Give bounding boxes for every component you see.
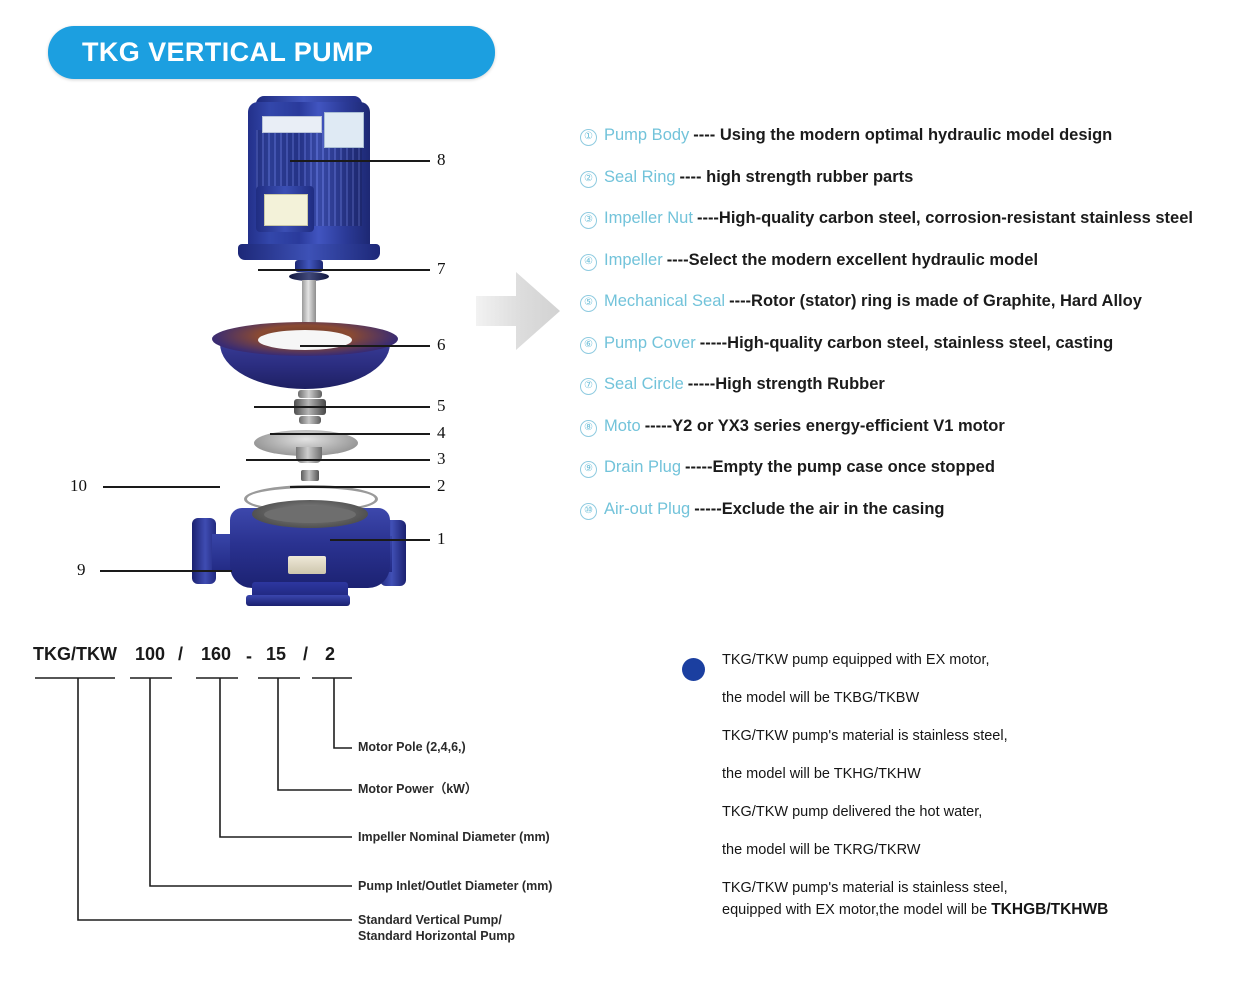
- legend-part-name-5: Mechanical Seal: [604, 292, 725, 311]
- legend-item-3: ③ Impeller Nut ----High-quality carbon s…: [580, 209, 1230, 230]
- callout-leader-4: [270, 433, 430, 435]
- legend-part-name-8: Moto: [604, 417, 641, 436]
- parts-legend: ① Pump Body ---- Using the modern optima…: [580, 126, 1230, 541]
- legend-part-name-7: Seal Circle: [604, 375, 684, 394]
- legend-item-1: ① Pump Body ---- Using the modern optima…: [580, 126, 1230, 147]
- impeller-nut-part: [301, 470, 319, 481]
- callout-number-10: 10: [70, 476, 87, 496]
- legend-part-desc-9: -----Empty the pump case once stopped: [685, 458, 995, 477]
- legend-number-icon-7: ⑦: [580, 378, 597, 395]
- callout-leader-5: [254, 406, 430, 408]
- nomenclature-label-motor-power: Motor Power（kW）: [358, 782, 477, 797]
- nomenclature-label-standard-line2: Standard Horizontal Pump: [358, 929, 515, 944]
- note-line-5: TKG/TKW pump delivered the hot water,: [722, 804, 1222, 820]
- pump-body-bore: [264, 506, 356, 523]
- legend-number-icon-8: ⑧: [580, 420, 597, 437]
- note-line-6: the model will be TKRG/TKRW: [722, 842, 1222, 858]
- note-line-8-model: TKHGB/TKHWB: [991, 901, 1108, 918]
- nomenclature-label-impeller-diameter: Impeller Nominal Diameter (mm): [358, 830, 550, 845]
- legend-part-desc-1: ---- Using the modern optimal hydraulic …: [693, 126, 1112, 145]
- nomenclature-label-inlet-outlet: Pump Inlet/Outlet Diameter (mm): [358, 879, 552, 894]
- bullet-icon: [682, 658, 705, 681]
- callout-number-9: 9: [77, 560, 86, 580]
- legend-part-desc-2: ---- high strength rubber parts: [680, 168, 914, 187]
- callout-number-6: 6: [437, 335, 446, 355]
- note-line-8: equipped with EX motor,the model will be…: [722, 902, 1222, 918]
- legend-part-desc-8: -----Y2 or YX3 series energy-efficient V…: [645, 417, 1005, 436]
- callout-leader-3: [246, 459, 430, 461]
- legend-item-4: ④ Impeller ----Select the modern excelle…: [580, 251, 1230, 272]
- legend-item-10: ⑩ Air-out Plug -----Exclude the air in t…: [580, 500, 1230, 521]
- callout-leader-2: [290, 486, 430, 488]
- callout-number-1: 1: [437, 529, 446, 549]
- note-line-4: the model will be TKHG/TKHW: [722, 766, 1222, 782]
- legend-number-icon-9: ⑨: [580, 461, 597, 478]
- nomenclature-label-standard-line1: Standard Vertical Pump/: [358, 913, 502, 928]
- note-line-8-text: equipped with EX motor,the model will be: [722, 902, 991, 918]
- nomenclature-leader-lines: Motor Pole (2,4,6,) Motor Power（kW） Impe…: [0, 0, 620, 330]
- mechanical-seal-part-c: [299, 416, 321, 424]
- note-line-2: the model will be TKBG/TKBW: [722, 690, 1222, 706]
- note-line-1: TKG/TKW pump equipped with EX motor,: [722, 652, 1222, 668]
- note-line-3: TKG/TKW pump's material is stainless ste…: [722, 728, 1222, 744]
- callout-number-5: 5: [437, 396, 446, 416]
- callout-leader-9: [100, 570, 232, 572]
- legend-number-icon-10: ⑩: [580, 503, 597, 520]
- pump-cover-bore: [258, 330, 352, 350]
- legend-part-name-9: Drain Plug: [604, 458, 681, 477]
- legend-part-desc-7: -----High strength Rubber: [688, 375, 885, 394]
- legend-part-desc-6: -----High-quality carbon steel, stainles…: [700, 334, 1114, 353]
- legend-part-desc-10: -----Exclude the air in the casing: [694, 500, 944, 519]
- pump-foot-lip: [246, 595, 350, 606]
- legend-item-2: ② Seal Ring ---- high strength rubber pa…: [580, 168, 1230, 189]
- legend-number-icon-6: ⑥: [580, 337, 597, 354]
- legend-part-desc-3: ----High-quality carbon steel, corrosion…: [697, 209, 1193, 228]
- mechanical-seal-part-a: [298, 390, 322, 398]
- legend-item-9: ⑨ Drain Plug -----Empty the pump case on…: [580, 458, 1230, 479]
- legend-item-7: ⑦ Seal Circle -----High strength Rubber: [580, 375, 1230, 396]
- model-variant-notes: TKG/TKW pump equipped with EX motor, the…: [682, 652, 1222, 940]
- legend-item-8: ⑧ Moto -----Y2 or YX3 series energy-effi…: [580, 417, 1230, 438]
- callout-leader-1: [330, 539, 430, 541]
- legend-item-5: ⑤ Mechanical Seal ----Rotor (stator) rin…: [580, 292, 1230, 313]
- drain-plug-part: [288, 556, 326, 574]
- legend-part-name-10: Air-out Plug: [604, 500, 690, 519]
- legend-part-desc-4: ----Select the modern excellent hydrauli…: [667, 251, 1038, 270]
- nomenclature-label-motor-pole: Motor Pole (2,4,6,): [358, 740, 466, 755]
- impeller-hub: [296, 447, 322, 463]
- note-line-7: TKG/TKW pump's material is stainless ste…: [722, 880, 1222, 896]
- legend-part-desc-5: ----Rotor (stator) ring is made of Graph…: [729, 292, 1142, 311]
- callout-number-3: 3: [437, 449, 446, 469]
- callout-leader-10: [103, 486, 220, 488]
- legend-part-name-6: Pump Cover: [604, 334, 696, 353]
- callout-number-2: 2: [437, 476, 446, 496]
- callout-leader-6: [300, 345, 430, 347]
- legend-item-6: ⑥ Pump Cover -----High-quality carbon st…: [580, 334, 1230, 355]
- callout-number-4: 4: [437, 423, 446, 443]
